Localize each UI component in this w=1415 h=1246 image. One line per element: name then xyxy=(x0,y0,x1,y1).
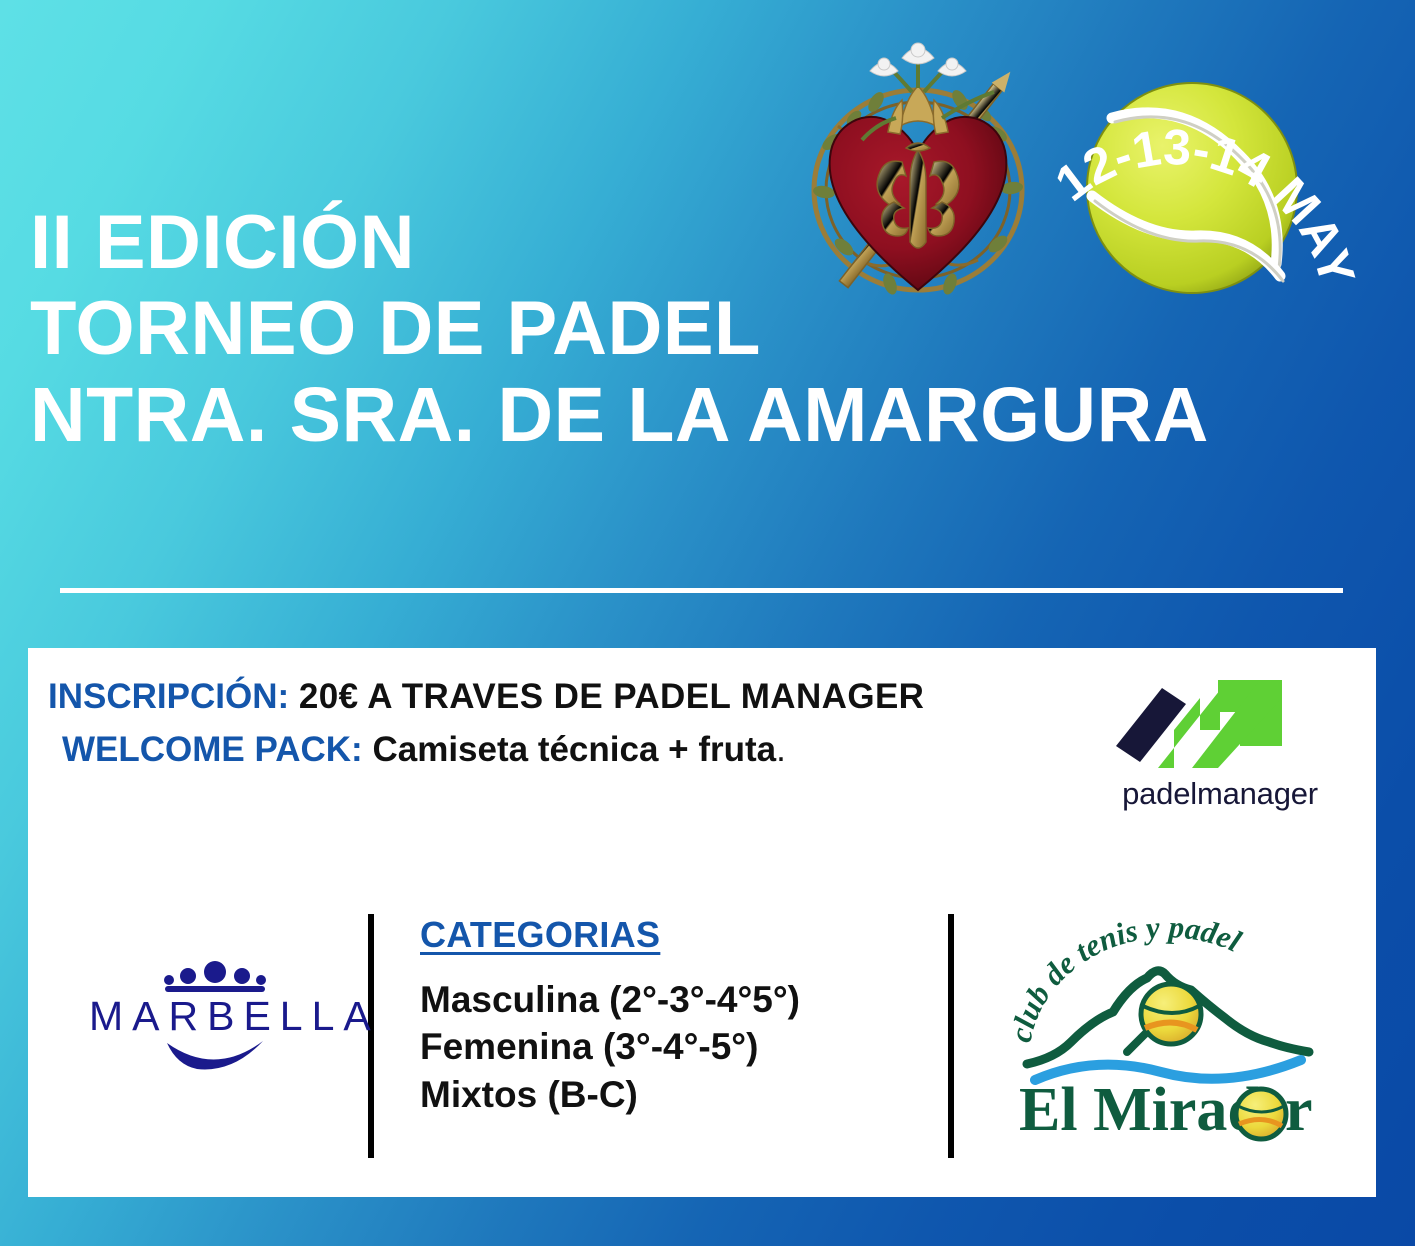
welcome-pack-label: WELCOME PACK: xyxy=(62,730,363,769)
welcome-pack-value: Camiseta técnica + fruta xyxy=(372,730,776,769)
padelmanager-mark-icon xyxy=(1100,668,1340,774)
mirador-name-part2: r xyxy=(1285,1076,1313,1142)
inscripcion-row: INSCRIPCIÓN: 20€ A TRAVES DE PADEL MANAG… xyxy=(48,670,1108,723)
inscripcion-label: INSCRIPCIÓN: xyxy=(48,677,289,716)
padelmanager-logo: padelmanager xyxy=(1100,668,1340,823)
categories-title: CATEGORIAS xyxy=(420,914,920,956)
categories-block: CATEGORIAS Masculina (2°-3°-4°5°) Femeni… xyxy=(420,914,920,1118)
page-title: II EDICIÓN TORNEO DE PADEL NTRA. SRA. DE… xyxy=(30,200,1390,459)
mirador-arc-text: club de tenis y padel xyxy=(1003,909,1247,1045)
info-card: INSCRIPCIÓN: 20€ A TRAVES DE PADEL MANAG… xyxy=(28,648,1376,1197)
category-item-masculina: Masculina (2°-3°-4°5°) xyxy=(420,976,920,1023)
marbella-crown-icon xyxy=(155,960,275,994)
category-item-mixtos: Mixtos (B-C) xyxy=(420,1071,920,1118)
marbella-smile-icon xyxy=(155,1039,275,1073)
category-item-femenina: Femenina (3°-4°-5°) xyxy=(420,1023,920,1070)
marbella-logo: MARBELLA xyxy=(80,960,350,1100)
registration-info: INSCRIPCIÓN: 20€ A TRAVES DE PADEL MANAG… xyxy=(48,670,1108,776)
title-line-3: NTRA. SRA. DE LA AMARGURA xyxy=(30,372,1390,459)
tournament-poster: 12-13-14 MAYO II EDICIÓN TORNEO DE PADEL… xyxy=(0,0,1415,1246)
el-mirador-logo: club de tenis y padel El Mirad xyxy=(1003,902,1333,1142)
title-line-1: II EDICIÓN xyxy=(30,200,1390,286)
sponsors-and-categories-row: MARBELLA CATEGORIAS Masculina (2°-3°-4°5… xyxy=(28,898,1376,1178)
padelmanager-wordmark: padelmanager xyxy=(1100,776,1340,812)
welcome-pack-row: WELCOME PACK: Camiseta técnica + fruta. xyxy=(48,723,1108,776)
title-divider xyxy=(60,588,1343,593)
title-line-2: TORNEO DE PADEL xyxy=(30,286,1390,372)
inscripcion-value: 20€ A TRAVES DE PADEL MANAGER xyxy=(299,677,925,716)
divider-right xyxy=(948,914,954,1158)
welcome-pack-period: . xyxy=(776,730,786,769)
marbella-wordmark: MARBELLA xyxy=(80,994,350,1039)
mirador-name-part1: El Mirad xyxy=(1019,1076,1262,1142)
